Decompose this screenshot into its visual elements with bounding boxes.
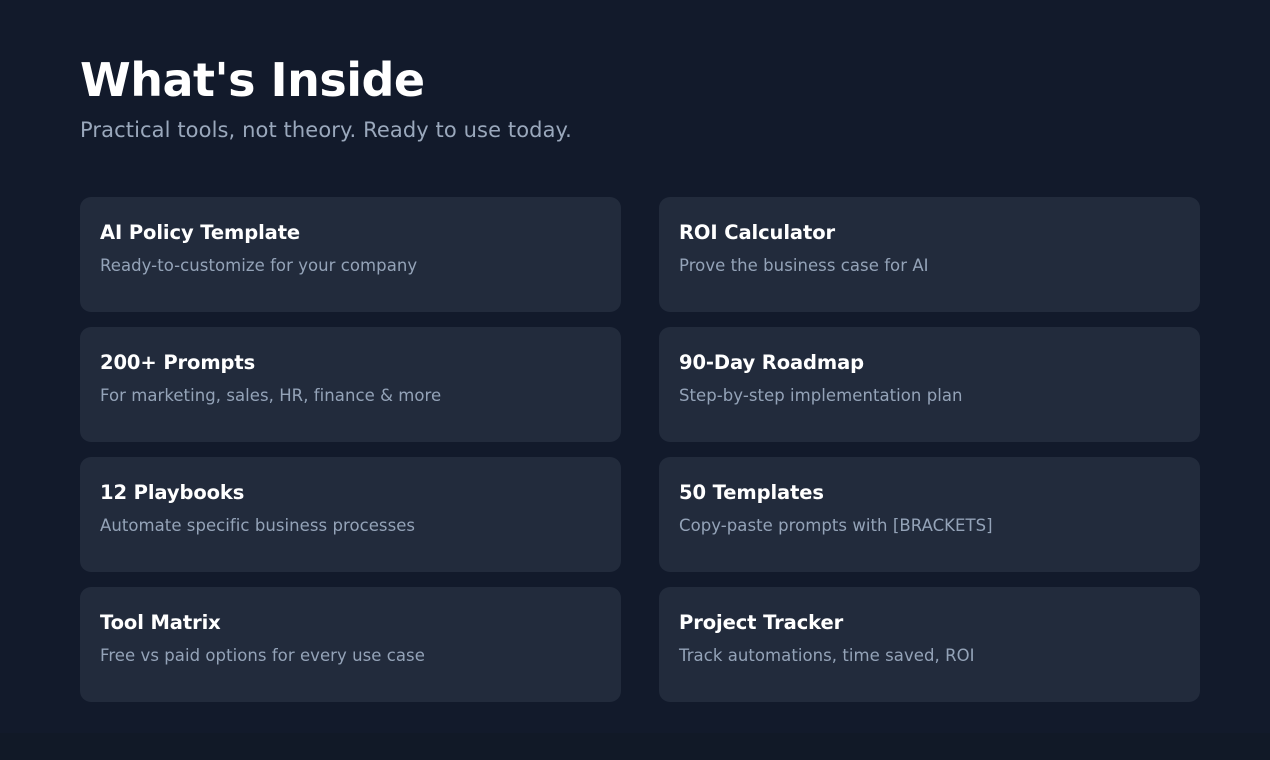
card-title: Tool Matrix xyxy=(100,611,621,634)
card-title: Project Tracker xyxy=(679,611,1200,634)
card-description: Track automations, time saved, ROI xyxy=(679,646,1200,666)
feature-card-200-prompts[interactable]: 200+ Prompts For marketing, sales, HR, f… xyxy=(80,327,621,442)
card-title: 200+ Prompts xyxy=(100,351,621,374)
feature-card-50-templates[interactable]: 50 Templates Copy-paste prompts with [BR… xyxy=(659,457,1200,572)
feature-card-ai-policy-template[interactable]: AI Policy Template Ready-to-customize fo… xyxy=(80,197,621,312)
feature-card-90-day-roadmap[interactable]: 90-Day Roadmap Step-by-step implementati… xyxy=(659,327,1200,442)
feature-card-12-playbooks[interactable]: 12 Playbooks Automate specific business … xyxy=(80,457,621,572)
feature-card-tool-matrix[interactable]: Tool Matrix Free vs paid options for eve… xyxy=(80,587,621,702)
card-title: 50 Templates xyxy=(679,481,1200,504)
page-bottom-edge xyxy=(0,733,1270,760)
whats-inside-page: What's Inside Practical tools, not theor… xyxy=(0,0,1270,760)
card-title: 90-Day Roadmap xyxy=(679,351,1200,374)
card-description: Prove the business case for AI xyxy=(679,256,1200,276)
card-description: For marketing, sales, HR, finance & more xyxy=(100,386,621,406)
feature-card-project-tracker[interactable]: Project Tracker Track automations, time … xyxy=(659,587,1200,702)
page-header: What's Inside Practical tools, not theor… xyxy=(80,56,1200,143)
card-title: AI Policy Template xyxy=(100,221,621,244)
card-description: Step-by-step implementation plan xyxy=(679,386,1200,406)
card-title: 12 Playbooks xyxy=(100,481,621,504)
feature-card-grid: AI Policy Template Ready-to-customize fo… xyxy=(80,197,1200,702)
page-subtitle: Practical tools, not theory. Ready to us… xyxy=(80,118,1200,143)
card-description: Ready-to-customize for your company xyxy=(100,256,621,276)
card-description: Free vs paid options for every use case xyxy=(100,646,621,666)
page-title: What's Inside xyxy=(80,56,1200,104)
card-description: Automate specific business processes xyxy=(100,516,621,536)
card-title: ROI Calculator xyxy=(679,221,1200,244)
feature-card-roi-calculator[interactable]: ROI Calculator Prove the business case f… xyxy=(659,197,1200,312)
card-description: Copy-paste prompts with [BRACKETS] xyxy=(679,516,1200,536)
